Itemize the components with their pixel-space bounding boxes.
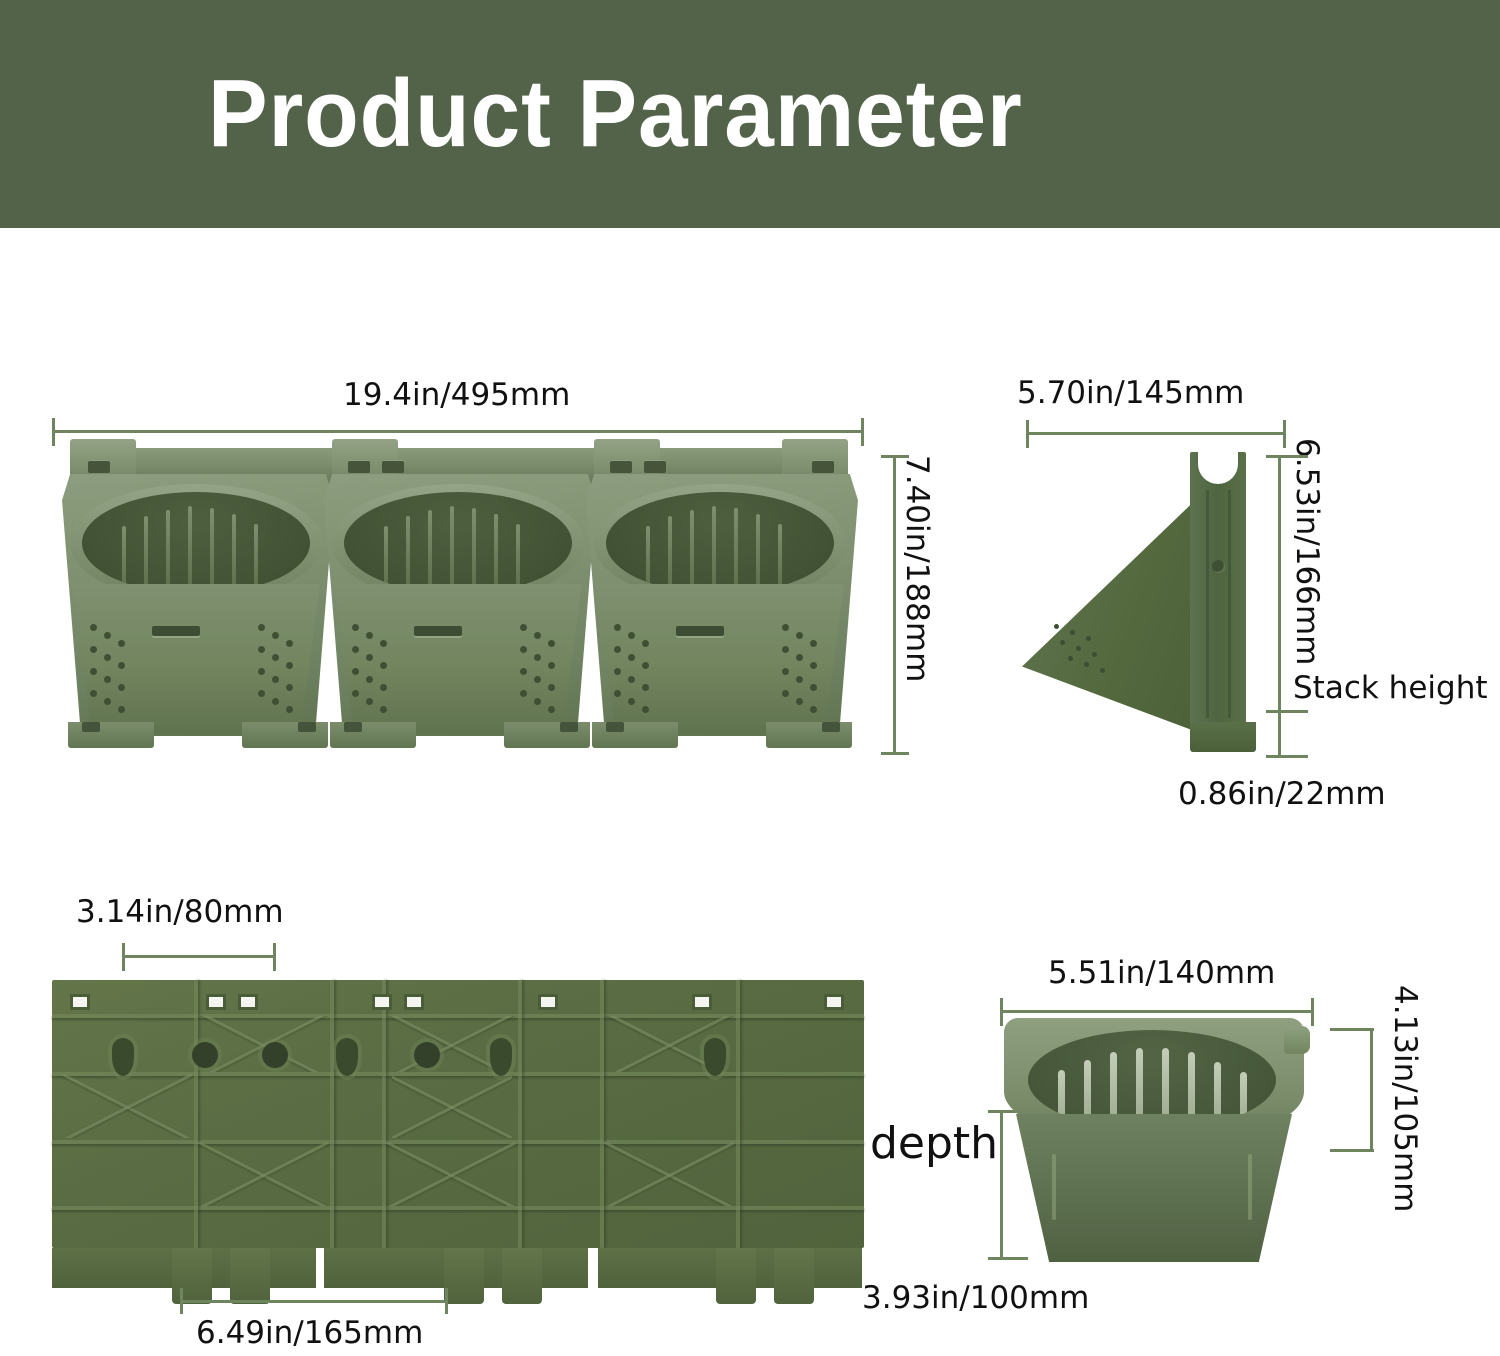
dim-tick-left	[52, 418, 55, 446]
foot-hole	[560, 722, 578, 732]
dim-label-pocket-height: 4.13in/105mm	[1389, 985, 1420, 1212]
panel-x-brace	[62, 1074, 192, 1138]
keyhole-mount-slot	[704, 1038, 726, 1076]
wedge-taper	[1022, 488, 1208, 736]
panel-lug	[774, 1248, 814, 1304]
dim-tick-bottom	[881, 752, 909, 755]
rail-hole	[812, 460, 834, 473]
dim-label-stack-height: 0.86in/22mm	[1178, 779, 1386, 810]
panel-rib-vertical	[330, 980, 334, 1248]
dim-label-foot-spacing: 6.49in/165mm	[196, 1318, 423, 1349]
panel-lug	[444, 1248, 484, 1304]
rail-hole	[382, 460, 404, 473]
panel-top-slot	[372, 994, 392, 1010]
pot-vent-slot	[1248, 1154, 1252, 1220]
dim-label-module-width: 3.14in/80mm	[76, 897, 284, 928]
dim-tick-top	[1330, 1028, 1374, 1031]
spine-groove	[1228, 490, 1231, 718]
annotation-depth: depth	[870, 1122, 998, 1166]
dim-tick-bottom	[1330, 1149, 1374, 1152]
dim-line-pocket-height	[1370, 1028, 1373, 1152]
panel-lug	[230, 1248, 270, 1304]
panel-top-slot	[538, 994, 558, 1010]
planter-pocket	[586, 474, 858, 736]
pot-vent-slot	[1052, 1154, 1056, 1220]
dim-tick-right	[861, 418, 864, 446]
rail-hole	[88, 460, 110, 473]
foot-hole	[344, 722, 362, 732]
panel-x-brace	[198, 1016, 328, 1072]
panel-top-slot	[206, 994, 226, 1010]
pocket-foot	[330, 722, 416, 748]
pot-side-lug	[1284, 1026, 1310, 1054]
annotation-stack-height: Stack height	[1293, 673, 1488, 704]
pocket-interior	[606, 492, 834, 594]
panel-x-brace	[604, 1142, 734, 1206]
pocket-foot	[68, 722, 154, 748]
panel-top-slot	[404, 994, 424, 1010]
dim-line-pocket-depth	[1000, 1110, 1003, 1260]
dim-label-three-pocket-height: 7.40in/188mm	[901, 455, 932, 682]
pocket-handle-slot	[152, 626, 200, 636]
panel-top-slot	[70, 994, 90, 1010]
pot-body	[1016, 1114, 1292, 1262]
dim-tick-left	[1026, 420, 1029, 448]
dim-tick-right	[273, 943, 276, 971]
product-view-three-pocket-planter	[52, 448, 862, 748]
rail-hole	[610, 460, 632, 473]
dim-label-side-depth: 5.70in/145mm	[1017, 378, 1244, 409]
panel-rib-vertical	[736, 980, 740, 1248]
panel-x-brace	[198, 1142, 328, 1206]
pocket-foot	[592, 722, 678, 748]
panel-x-brace	[386, 1142, 516, 1206]
dim-label-side-height: 6.53in/166mm	[1291, 438, 1322, 665]
dim-tick-right	[1283, 420, 1286, 448]
mount-hole	[192, 1042, 218, 1068]
dim-tick-left	[122, 943, 125, 971]
keyhole-mount-slot	[336, 1038, 358, 1076]
panel-rib-horizontal	[52, 1206, 864, 1210]
keyhole-mount-slot	[490, 1038, 512, 1076]
panel-rib-vertical	[518, 980, 522, 1248]
rail-hole	[348, 460, 370, 473]
dim-label-three-pocket-width: 19.4in/495mm	[343, 380, 570, 411]
dim-line-three-pocket-width	[52, 430, 864, 433]
product-parameter-page: Product Parameter 19.4in/495mm 7.40in/18…	[0, 0, 1500, 1356]
dim-tick-right	[1311, 998, 1314, 1026]
wedge-back-spine	[1190, 452, 1246, 752]
foot-hole	[606, 722, 624, 732]
dim-tick-left	[1000, 998, 1003, 1026]
product-view-back-panel	[52, 980, 864, 1248]
foot-hole	[822, 722, 840, 732]
pocket-handle-slot	[676, 626, 724, 636]
panel-lug	[172, 1248, 212, 1304]
page-title: Product Parameter	[208, 66, 1023, 162]
dim-tick-right	[445, 1288, 448, 1314]
pocket-interior	[82, 492, 310, 594]
panel-top-slot	[824, 994, 844, 1010]
planter-pocket	[324, 474, 596, 736]
mount-hole	[414, 1042, 440, 1068]
rail-hole	[644, 460, 666, 473]
panel-face	[52, 980, 864, 1248]
panel-lug	[716, 1248, 756, 1304]
dim-line-side-depth	[1026, 432, 1286, 435]
keyhole-mount-slot	[112, 1038, 134, 1076]
dim-label-pocket-width: 5.51in/140mm	[1048, 958, 1275, 989]
dim-line-module-width	[122, 955, 276, 958]
dim-line-pocket-width	[1000, 1010, 1314, 1013]
spine-groove	[1206, 490, 1209, 718]
dim-tick-top	[881, 455, 909, 458]
product-view-side-profile	[1022, 452, 1282, 752]
dim-label-pocket-depth: 3.93in/100mm	[862, 1283, 1089, 1314]
planter-pocket	[62, 474, 334, 736]
dim-line-three-pocket-height	[893, 455, 896, 755]
dim-tick-stack-bottom	[1266, 755, 1308, 758]
dim-line-foot-spacing	[180, 1300, 448, 1303]
panel-top-slot	[238, 994, 258, 1010]
header-band: Product Parameter	[0, 0, 1500, 228]
wedge-bottom-lip	[1190, 722, 1256, 752]
pocket-interior	[344, 492, 572, 594]
foot-hole	[82, 722, 100, 732]
panel-top-slot	[692, 994, 712, 1010]
pocket-handle-slot	[414, 626, 462, 636]
mount-hole	[262, 1042, 288, 1068]
panel-x-brace	[392, 1074, 512, 1138]
product-view-single-pocket	[1004, 1018, 1304, 1258]
spine-hole	[1212, 560, 1225, 573]
foot-hole	[298, 722, 316, 732]
dim-tick-left	[180, 1288, 183, 1314]
panel-lug	[502, 1248, 542, 1304]
